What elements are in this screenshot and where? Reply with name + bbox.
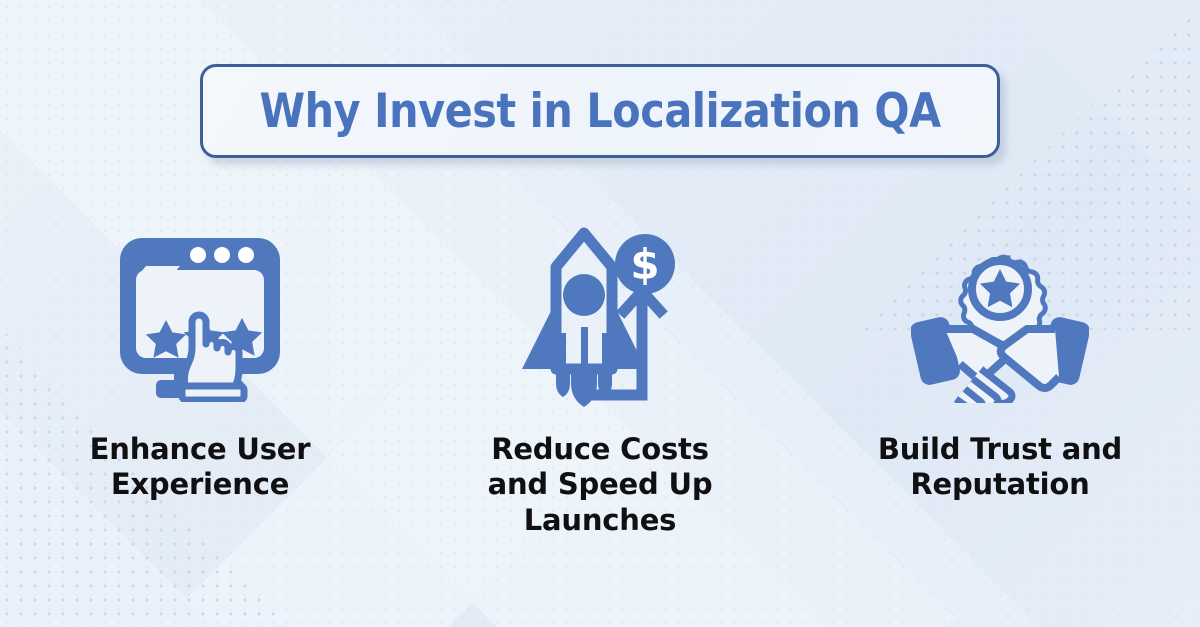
feature-card-label: Build Trust and Reputation	[878, 432, 1122, 503]
page-title-box: Why Invest in Localization QA	[200, 64, 1000, 158]
feature-card-build-trust: Build Trust and Reputation	[800, 225, 1200, 538]
browser-window-star-rating-icon	[112, 225, 288, 410]
rocket-dollar-growth-icon: $	[512, 225, 688, 410]
page-title: Why Invest in Localization QA	[259, 84, 940, 139]
feature-card-enhance-user-experience: Enhance User Experience	[0, 225, 400, 538]
feature-card-label: Reduce Costs and Speed Up Launches	[488, 432, 713, 538]
corner-wedge-top-right	[995, 0, 1200, 205]
feature-card-label: Enhance User Experience	[90, 432, 311, 503]
feature-card-row: Enhance User Experience	[0, 225, 1200, 538]
infographic-canvas: Why Invest in Localization QA	[0, 0, 1200, 627]
handshake-award-badge-icon	[911, 225, 1089, 410]
feature-card-reduce-costs: $ Reduce Costs and Speed Up Launches	[400, 225, 800, 538]
svg-text:$: $	[630, 240, 659, 289]
